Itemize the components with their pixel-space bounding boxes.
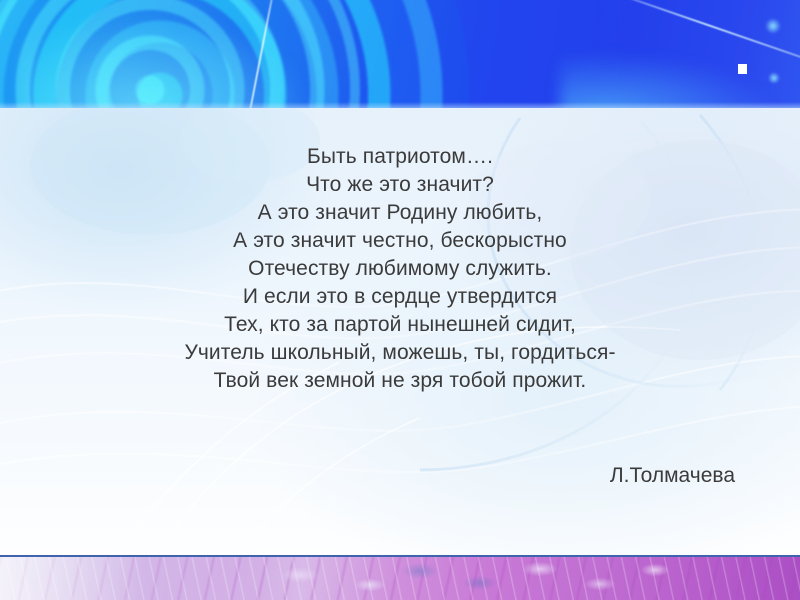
- header-glow-left: [20, 10, 320, 108]
- slide-footer-band: [0, 557, 800, 600]
- poem-line: Твой век земной не зря тобой прожит.: [0, 367, 800, 395]
- slide-header-band: [0, 0, 800, 108]
- presentation-slide: Быть патриотом…. Что же это значит? А эт…: [0, 0, 800, 600]
- poem-line: Тех, кто за партой нынешней сидит,: [0, 311, 800, 339]
- poem-line: Что же это значит?: [0, 171, 800, 199]
- poem-line: Быть патриотом….: [0, 143, 800, 171]
- poem-text-block: Быть патриотом…. Что же это значит? А эт…: [0, 143, 800, 395]
- header-light-dot-lower: [768, 72, 780, 84]
- header-light-dot-upper: [765, 18, 781, 34]
- poem-line: Отечеству любимому служить.: [0, 255, 800, 283]
- poem-author: Л.Толмачева: [0, 462, 735, 490]
- poem-line: А это значит честно, бескорыстно: [0, 227, 800, 255]
- footer-band-left-highlight: [0, 557, 260, 600]
- poem-line: Учитель школьный, можешь, ты, гордиться-: [0, 339, 800, 367]
- poem-line: А это значит Родину любить,: [0, 199, 800, 227]
- poem-line: И если это в сердце утвердится: [0, 283, 800, 311]
- white-square-marker-icon: [738, 64, 747, 74]
- header-glow-right: [560, 52, 780, 108]
- header-bottom-fade: [0, 102, 800, 108]
